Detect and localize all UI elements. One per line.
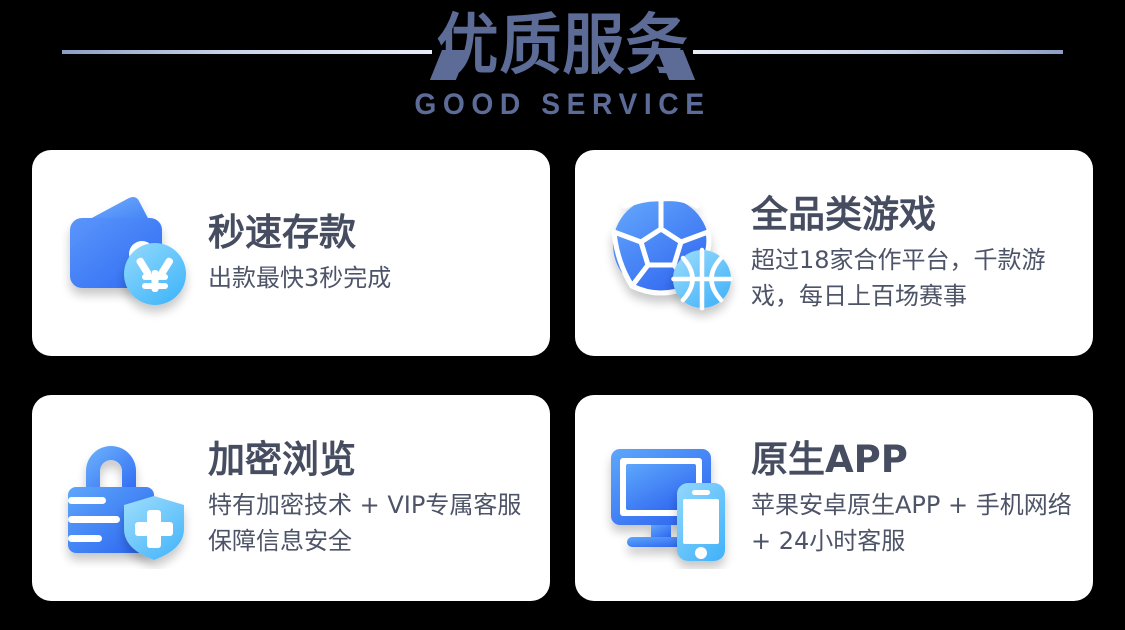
- feature-card-games-text: 全品类游戏 超过18家合作平台，千款游戏，每日上百场赛事: [751, 192, 1093, 314]
- page-title-cn: 优质服务: [0, 4, 1125, 87]
- feature-card-games[interactable]: 全品类游戏 超过18家合作平台，千款游戏，每日上百场赛事: [575, 150, 1093, 356]
- page-title: 优质服务 GOOD SERVICE: [0, 6, 1125, 122]
- monitor-phone-icon: [601, 427, 743, 569]
- card-title: 秒速存款: [208, 210, 391, 256]
- card-title: 加密浏览: [208, 437, 536, 483]
- card-description: 超过18家合作平台，千款游戏，每日上百场赛事: [751, 242, 1079, 314]
- feature-card-encryption-text: 加密浏览 特有加密技术 + VIP专属客服保障信息安全: [208, 437, 550, 559]
- card-title: 全品类游戏: [751, 192, 1079, 238]
- feature-card-native-app-text: 原生APP 苹果安卓原生APP + 手机网络 + 24小时客服: [751, 437, 1093, 559]
- feature-card-deposit-text: 秒速存款 出款最快3秒完成: [208, 210, 405, 296]
- feature-card-encryption[interactable]: 加密浏览 特有加密技术 + VIP专属客服保障信息安全: [32, 395, 550, 601]
- card-title: 原生APP: [751, 437, 1079, 483]
- card-description: 出款最快3秒完成: [208, 260, 391, 296]
- feature-card-grid: 秒速存款 出款最快3秒完成: [32, 150, 1093, 601]
- feature-card-deposit[interactable]: 秒速存款 出款最快3秒完成: [32, 150, 550, 356]
- card-description: 苹果安卓原生APP + 手机网络 + 24小时客服: [751, 487, 1079, 559]
- card-description: 特有加密技术 + VIP专属客服保障信息安全: [208, 487, 536, 559]
- lock-shield-icon: [58, 427, 200, 569]
- page-header: 优质服务 GOOD SERVICE: [0, 0, 1125, 148]
- soccer-basketball-icon: [601, 182, 743, 324]
- feature-card-native-app[interactable]: 原生APP 苹果安卓原生APP + 手机网络 + 24小时客服: [575, 395, 1093, 601]
- page-title-en: GOOD SERVICE: [34, 88, 1092, 122]
- wallet-yen-icon: [58, 182, 200, 324]
